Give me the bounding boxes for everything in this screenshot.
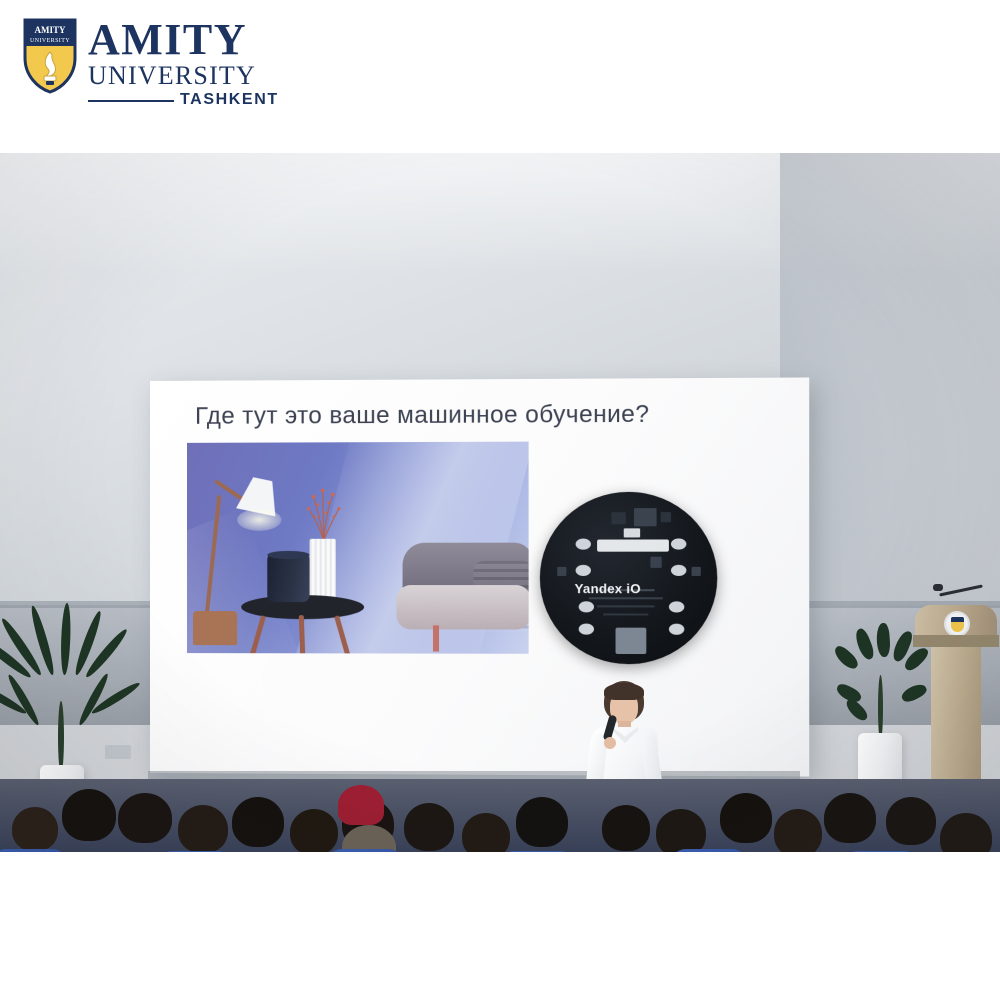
logo-tashkent-text: TASHKENT — [180, 91, 279, 109]
logo-university-text: UNIVERSITY — [88, 62, 279, 89]
smart-speaker-top — [267, 551, 309, 559]
attendee-head — [824, 793, 876, 843]
podium-shelf — [913, 635, 999, 647]
attendee-head — [462, 813, 510, 852]
event-photograph: Где тут это ваше машинное обучение? — [0, 153, 1000, 852]
plant-left — [18, 605, 114, 780]
footer-band — [0, 852, 1000, 1000]
podium-microphone-head — [933, 584, 943, 591]
logo-tashkent-row: TASHKENT — [88, 91, 279, 109]
amity-university-logo: AMITY UNIVERSITY AMITY UNIVERSITY TASHKE… — [22, 16, 279, 109]
logo-amity-text: AMITY — [88, 20, 279, 60]
floor-lamp-glow — [237, 509, 281, 531]
podium-body — [931, 647, 981, 791]
attendee-head — [886, 797, 936, 845]
page-root: AMITY UNIVERSITY AMITY UNIVERSITY TASHKE… — [0, 0, 1000, 1000]
pcb-brand-label: Yandex iO — [575, 581, 641, 596]
slide-right-image-pcb: Yandex iO — [540, 492, 717, 665]
sofa-seat — [396, 585, 528, 629]
attendee-head — [178, 805, 228, 852]
dried-flowers — [304, 482, 344, 542]
smart-speaker — [267, 554, 309, 602]
attendee-head — [404, 803, 454, 851]
attendee-head — [290, 809, 338, 852]
audience-seating — [0, 779, 1000, 852]
slide-left-image — [187, 442, 529, 654]
attendee-head — [62, 789, 116, 841]
projection-screen: Где тут это ваше машинное обучение? — [150, 377, 809, 776]
attendee-head — [774, 809, 822, 852]
slide-title: Где тут это ваше машинное обучение? — [195, 401, 649, 431]
attendee-head — [602, 805, 650, 851]
attendee-head — [720, 793, 772, 843]
sofa-leg — [433, 625, 439, 651]
svg-text:UNIVERSITY: UNIVERSITY — [30, 38, 70, 44]
podium-amity-emblem-icon — [944, 611, 970, 637]
attendee-head — [656, 809, 706, 852]
attendee-head — [12, 807, 58, 851]
pcb-ribbon-connector — [597, 539, 669, 551]
svg-text:AMITY: AMITY — [35, 25, 66, 35]
logo-wordmark: AMITY UNIVERSITY TASHKENT — [88, 16, 279, 109]
attendee-head — [516, 797, 568, 847]
screen-base-shadow — [148, 771, 800, 779]
amity-shield-icon: AMITY UNIVERSITY — [22, 16, 78, 94]
presenter-hand — [604, 737, 616, 749]
slide-surface: Где тут это ваше машинное обучение? — [150, 377, 809, 776]
attendee-head — [118, 793, 172, 843]
header-band: AMITY UNIVERSITY AMITY UNIVERSITY TASHKE… — [0, 0, 1000, 153]
logo-divider-rule — [88, 100, 174, 102]
floor-lamp-base — [193, 611, 237, 645]
presenter-hair-front — [604, 683, 644, 700]
attendee-hijab — [338, 785, 384, 825]
podium-head — [915, 605, 997, 639]
lectern-podium — [915, 605, 997, 791]
attendee-head — [232, 797, 284, 847]
